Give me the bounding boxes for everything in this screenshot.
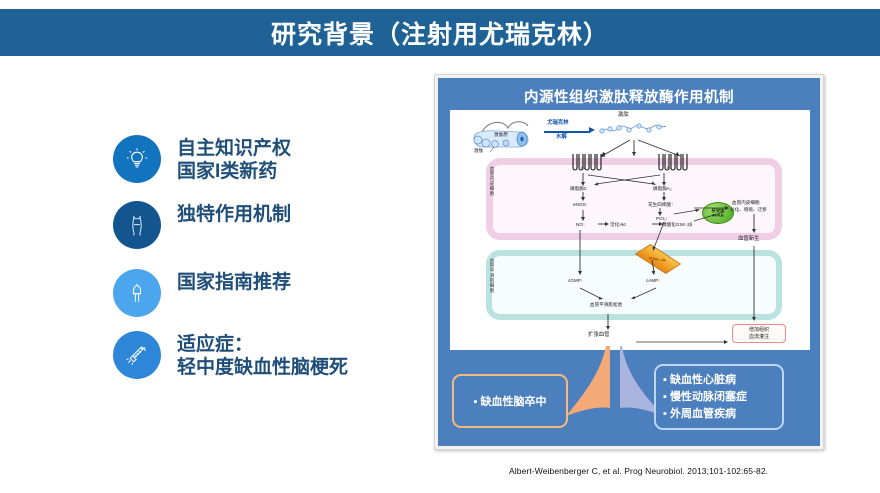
list-item-label: 适应症： 轻中度缺血性脑梗死 — [177, 331, 348, 379]
label-endothelial-differentiation-1: 血管内皮细胞 — [732, 200, 760, 206]
receptor-b1-icon — [656, 153, 690, 173]
label-endothelial-differentiation-2: 分化、增殖、迁移 — [730, 207, 767, 213]
label-urinary-kallidinogenase: 尤瑞克林 — [547, 120, 569, 126]
callout-right-item: ▪ 缺血性心脏病 — [663, 372, 782, 389]
label-kinin: 激肽 — [618, 112, 629, 118]
callout-ischemic-stroke[interactable]: ▪ 缺血性脑卒中 — [452, 374, 568, 428]
label-b2: B2 — [581, 165, 586, 171]
callout-right-item: ▪ 外周血管疾病 — [663, 406, 782, 423]
mechanism-diagram: 激肽原 激肽 尤瑞克林 水解 激肽 — [450, 110, 810, 350]
slide-title-bar: 研究背景（注射用尤瑞克林） — [0, 9, 880, 56]
callout-left-label: ▪ 缺血性脑卒中 — [474, 393, 547, 409]
tissue-perfusion-box: 增加组织 血流灌注 — [732, 324, 786, 343]
feature-bullet-list: 自主知识产权 国家I类新药 独特作用机制 国家指南推荐 — [113, 135, 433, 393]
molecule-icon — [113, 201, 161, 249]
receptor-b2-icon — [570, 153, 604, 173]
mechanism-panel-frame: 内源性组织激肽释放酶作用机制 激肽原 激肽 尤瑞克林 水解 激肽 — [434, 74, 824, 450]
label-hydrolysis: 水解 — [556, 134, 567, 140]
perfusion-line2: 血流灌注 — [736, 334, 782, 341]
citation-text: Albert-Weibenberger C, et al. Prog Neuro… — [509, 466, 768, 476]
label-kinin-small: 激肽 — [474, 148, 483, 154]
syringe-icon — [113, 331, 161, 379]
label-kininogen: 激肽原 — [494, 132, 508, 138]
label-angiogenesis: 血管新生 — [738, 236, 760, 242]
page-title: 研究背景（注射用尤瑞克林） — [271, 15, 609, 51]
label-endothelial-cell: 血管内皮细胞 — [489, 166, 495, 196]
hydrolysis-arrow — [544, 131, 590, 133]
label-smooth-muscle-cell: 血管平滑肌细胞 — [489, 258, 495, 293]
list-item-label: 自主知识产权 国家I类新药 — [177, 135, 291, 183]
list-item[interactable]: 独特作用机制 — [113, 201, 433, 249]
callout-other-indications[interactable]: ▪ 缺血性心脏病 ▪ 慢性动脉闭塞症 ▪ 外周血管疾病 — [654, 364, 784, 430]
label-vasodilation: 扩张血管 — [588, 332, 610, 338]
mechanism-panel: 内源性组织激肽释放酶作用机制 激肽原 激肽 尤瑞克林 水解 激肽 — [438, 78, 820, 446]
hydrolysis-arrowhead — [589, 127, 595, 133]
list-item[interactable]: 国家指南推荐 — [113, 269, 433, 317]
list-item-label: 独特作用机制 — [177, 201, 291, 226]
capsule-icon — [113, 269, 161, 317]
list-item[interactable]: 自主知识产权 国家I类新药 — [113, 135, 433, 183]
label-b1: B1 — [667, 165, 672, 171]
list-item-label: 国家指南推荐 — [177, 269, 291, 294]
lightbulb-icon — [113, 135, 161, 183]
callout-right-item: ▪ 慢性动脉闭塞症 — [663, 389, 782, 406]
list-item[interactable]: 适应症： 轻中度缺血性脑梗死 — [113, 331, 433, 379]
panel-title: 内源性组织激肽释放酶作用机制 — [438, 86, 820, 107]
